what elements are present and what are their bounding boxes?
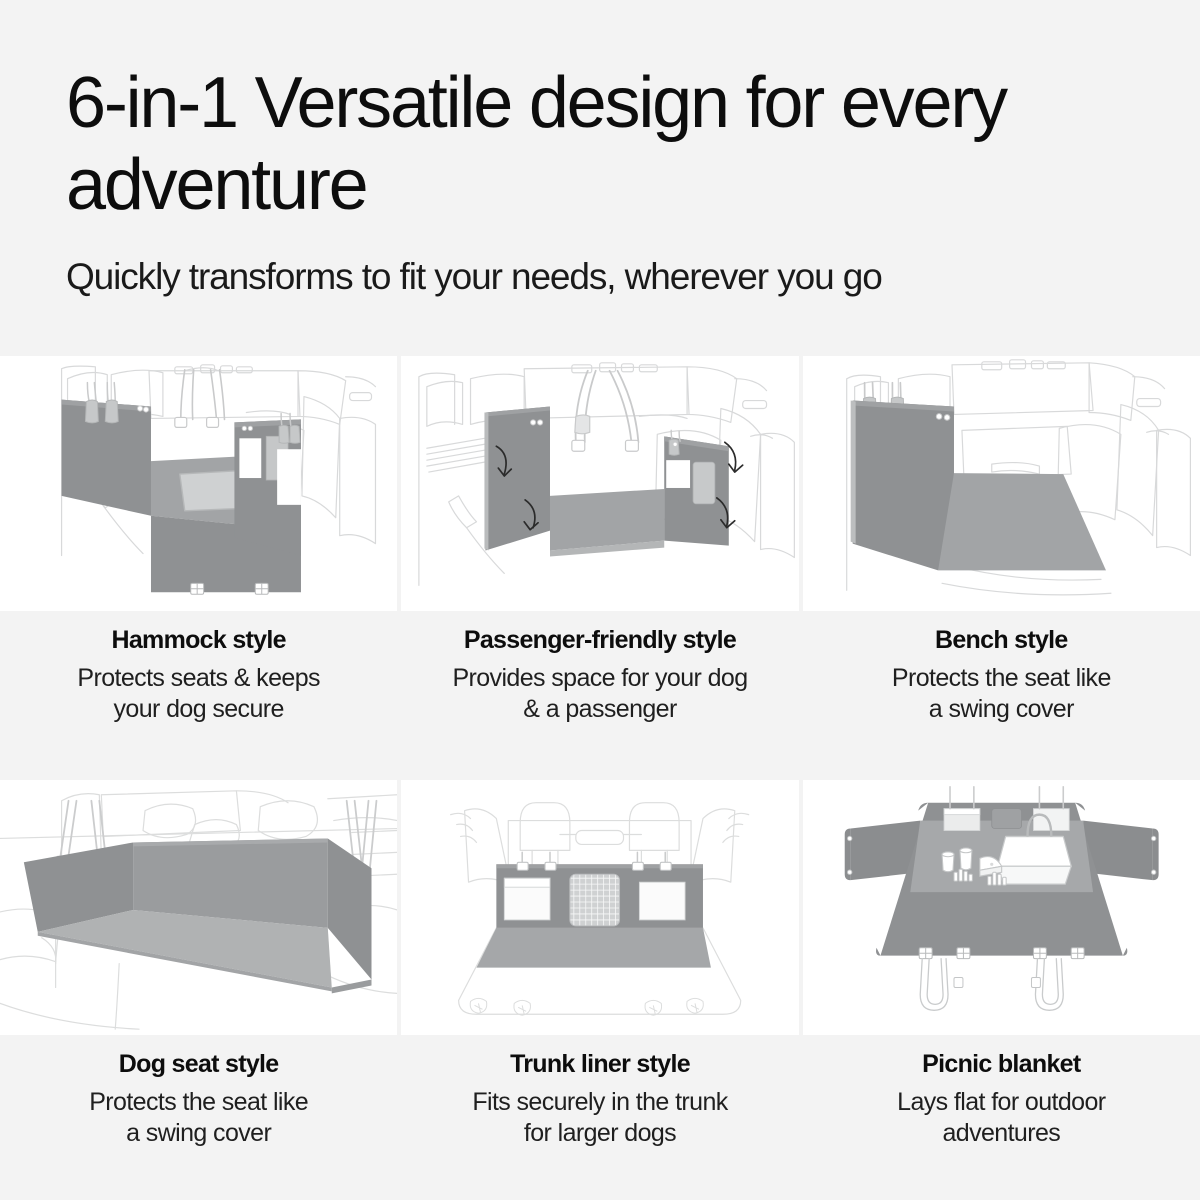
bench-illustration [803, 356, 1200, 611]
caption: Hammock style Protects seats & keeps you… [0, 611, 397, 725]
card-title: Bench style [819, 625, 1184, 655]
caption: Bench style Protects the seat like a swi… [803, 611, 1200, 725]
page-title: 6-in-1 Versatile design for every advent… [66, 62, 1066, 226]
card-description-line1: Provides space for your dog [452, 664, 747, 692]
card-description-line1: Protects the seat like [892, 664, 1111, 692]
picnic-blanket-illustration [803, 780, 1200, 1035]
card-description-line2: for larger dogs [524, 1119, 676, 1147]
card-description: Protects seats & keeps your dog secure [16, 663, 381, 725]
card-description-line1: Protects seats & keeps [77, 664, 319, 692]
feature-card-trunk-liner-style[interactable]: Trunk liner style Fits securely in the t… [401, 780, 798, 1200]
page-subtitle: Quickly transforms to fit your needs, wh… [66, 254, 1134, 300]
caption: Picnic blanket Lays flat for outdoor adv… [803, 1035, 1200, 1149]
card-description-line1: Lays flat for outdoor [897, 1088, 1105, 1116]
card-title: Passenger-friendly style [417, 625, 782, 655]
passenger-friendly-illustration [401, 356, 798, 611]
header: 6-in-1 Versatile design for every advent… [0, 0, 1200, 356]
trunk-liner-illustration [401, 780, 798, 1035]
card-description-line2: a swing cover [126, 1119, 271, 1147]
feature-card-bench-style[interactable]: Bench style Protects the seat like a swi… [803, 356, 1200, 776]
feature-card-hammock-style[interactable]: Hammock style Protects seats & keeps you… [0, 356, 397, 776]
card-description-line2: a swing cover [929, 695, 1074, 723]
card-title: Dog seat style [16, 1049, 381, 1079]
card-description-line2: your dog secure [114, 695, 284, 723]
infographic-page: 6-in-1 Versatile design for every advent… [0, 0, 1200, 1200]
card-description-line2: & a passenger [523, 695, 676, 723]
card-title: Trunk liner style [417, 1049, 782, 1079]
hammock-illustration [0, 356, 397, 611]
caption: Trunk liner style Fits securely in the t… [401, 1035, 798, 1149]
card-description-line1: Protects the seat like [89, 1088, 308, 1116]
feature-grid: Hammock style Protects seats & keeps you… [0, 356, 1200, 1200]
caption: Passenger-friendly style Provides space … [401, 611, 798, 725]
card-description: Lays flat for outdoor adventures [819, 1087, 1184, 1149]
card-title: Picnic blanket [819, 1049, 1184, 1079]
dog-seat-illustration [0, 780, 397, 1035]
card-description-line1: Fits securely in the trunk [472, 1088, 727, 1116]
feature-card-dog-seat-style[interactable]: Dog seat style Protects the seat like a … [0, 780, 397, 1200]
card-description: Protects the seat like a swing cover [819, 663, 1184, 725]
feature-card-picnic-blanket[interactable]: Picnic blanket Lays flat for outdoor adv… [803, 780, 1200, 1200]
card-description: Protects the seat like a swing cover [16, 1087, 381, 1149]
card-description-line2: adventures [942, 1119, 1060, 1147]
card-description: Fits securely in the trunk for larger do… [417, 1087, 782, 1149]
card-title: Hammock style [16, 625, 381, 655]
card-description: Provides space for your dog & a passenge… [417, 663, 782, 725]
feature-card-passenger-friendly-style[interactable]: Passenger-friendly style Provides space … [401, 356, 798, 776]
caption: Dog seat style Protects the seat like a … [0, 1035, 397, 1149]
